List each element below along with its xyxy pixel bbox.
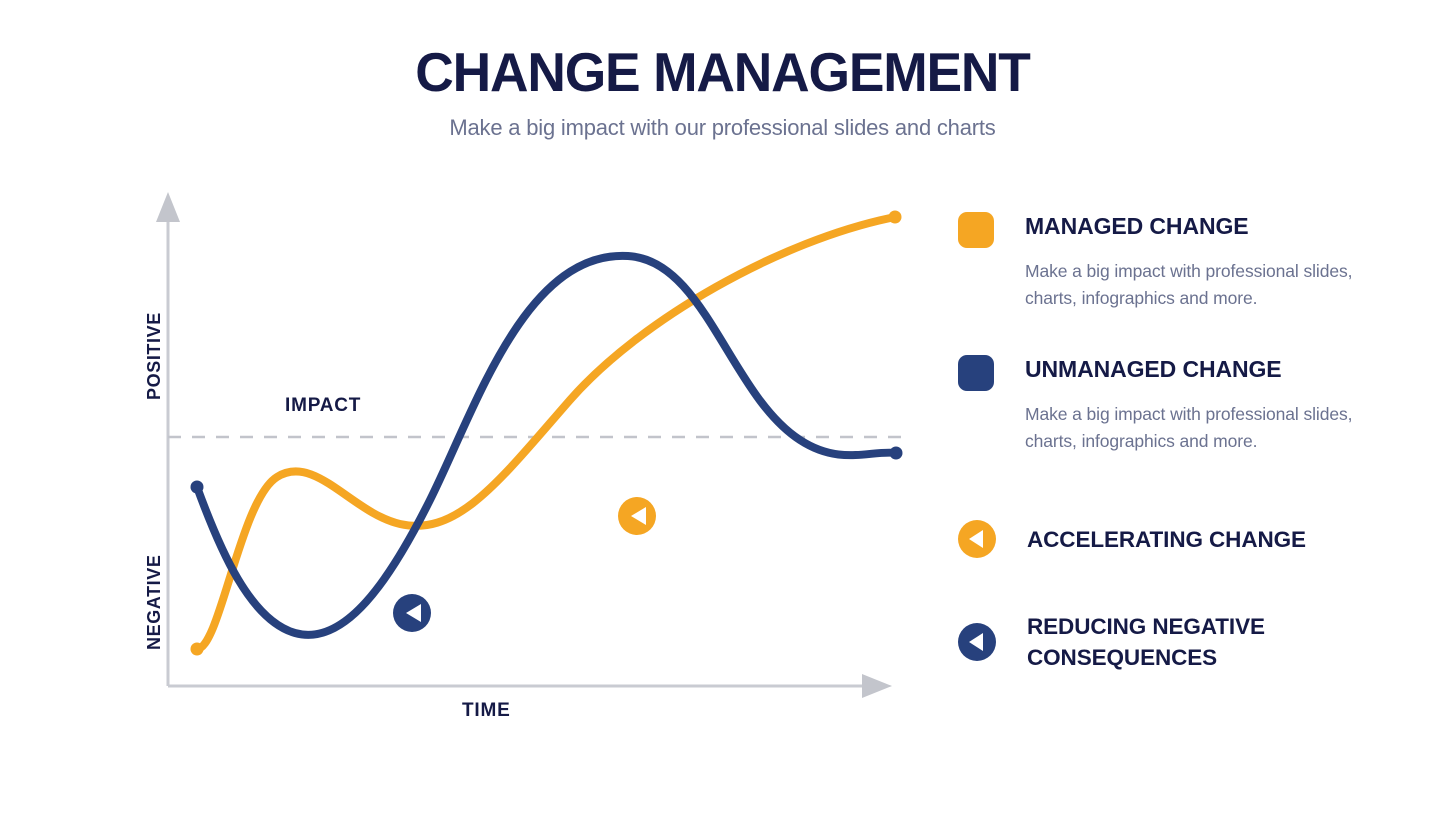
legend-item-title: REDUCING NEGATIVE CONSEQUENCES bbox=[1027, 611, 1388, 673]
y-axis-label-negative: NEGATIVE bbox=[144, 555, 165, 650]
page-title: CHANGE MANAGEMENT bbox=[22, 42, 1424, 102]
impact-threshold-label: IMPACT bbox=[285, 395, 361, 417]
legend-item-description: Make a big impact with professional slid… bbox=[1025, 401, 1370, 455]
unmanaged-change-start-dot bbox=[191, 481, 204, 494]
legend-item-text: UNMANAGED CHANGE Make a big impact with … bbox=[1025, 353, 1388, 455]
legend-item-text: REDUCING NEGATIVE CONSEQUENCES bbox=[1027, 611, 1388, 673]
chart-plot-area bbox=[100, 180, 930, 750]
unmanaged-change-line bbox=[197, 256, 896, 635]
legend: MANAGED CHANGE Make a big impact with pr… bbox=[958, 210, 1388, 673]
play-left-circle-icon bbox=[958, 623, 996, 661]
legend-item-reducing-negative-consequences[interactable]: REDUCING NEGATIVE CONSEQUENCES bbox=[958, 611, 1388, 673]
square-swatch-icon bbox=[958, 212, 994, 248]
y-axis-arrow-icon bbox=[156, 192, 180, 222]
page-header: CHANGE MANAGEMENT Make a big impact with… bbox=[0, 0, 1445, 143]
legend-item-title: ACCELERATING CHANGE bbox=[1027, 524, 1388, 555]
legend-item-unmanaged-change[interactable]: UNMANAGED CHANGE Make a big impact with … bbox=[958, 353, 1388, 455]
legend-item-title: UNMANAGED CHANGE bbox=[1025, 353, 1388, 384]
accelerating-change-marker-icon[interactable] bbox=[618, 497, 656, 535]
y-axis-label-positive: POSITIVE bbox=[144, 312, 165, 400]
legend-item-title: MANAGED CHANGE bbox=[1025, 210, 1388, 241]
triangle-left-glyph bbox=[969, 530, 983, 548]
square-swatch-icon bbox=[958, 355, 994, 391]
page-subtitle: Make a big impact with our professional … bbox=[0, 113, 1445, 143]
legend-item-description: Make a big impact with professional slid… bbox=[1025, 258, 1370, 312]
triangle-left-glyph bbox=[969, 633, 983, 651]
play-left-circle-icon bbox=[958, 520, 996, 558]
managed-change-end-dot bbox=[889, 211, 902, 224]
managed-change-start-dot bbox=[191, 643, 204, 656]
legend-item-text: MANAGED CHANGE Make a big impact with pr… bbox=[1025, 210, 1388, 312]
legend-item-accelerating-change[interactable]: ACCELERATING CHANGE bbox=[958, 520, 1388, 558]
x-axis-label-time: TIME bbox=[462, 700, 511, 722]
x-axis-arrow-icon bbox=[862, 674, 892, 698]
reducing-negative-consequences-marker-icon[interactable] bbox=[393, 594, 431, 632]
change-management-chart: POSITIVE NEGATIVE TIME IMPACT bbox=[100, 180, 930, 750]
legend-item-managed-change[interactable]: MANAGED CHANGE Make a big impact with pr… bbox=[958, 210, 1388, 312]
unmanaged-change-end-dot bbox=[890, 447, 903, 460]
legend-item-text: ACCELERATING CHANGE bbox=[1027, 524, 1388, 555]
